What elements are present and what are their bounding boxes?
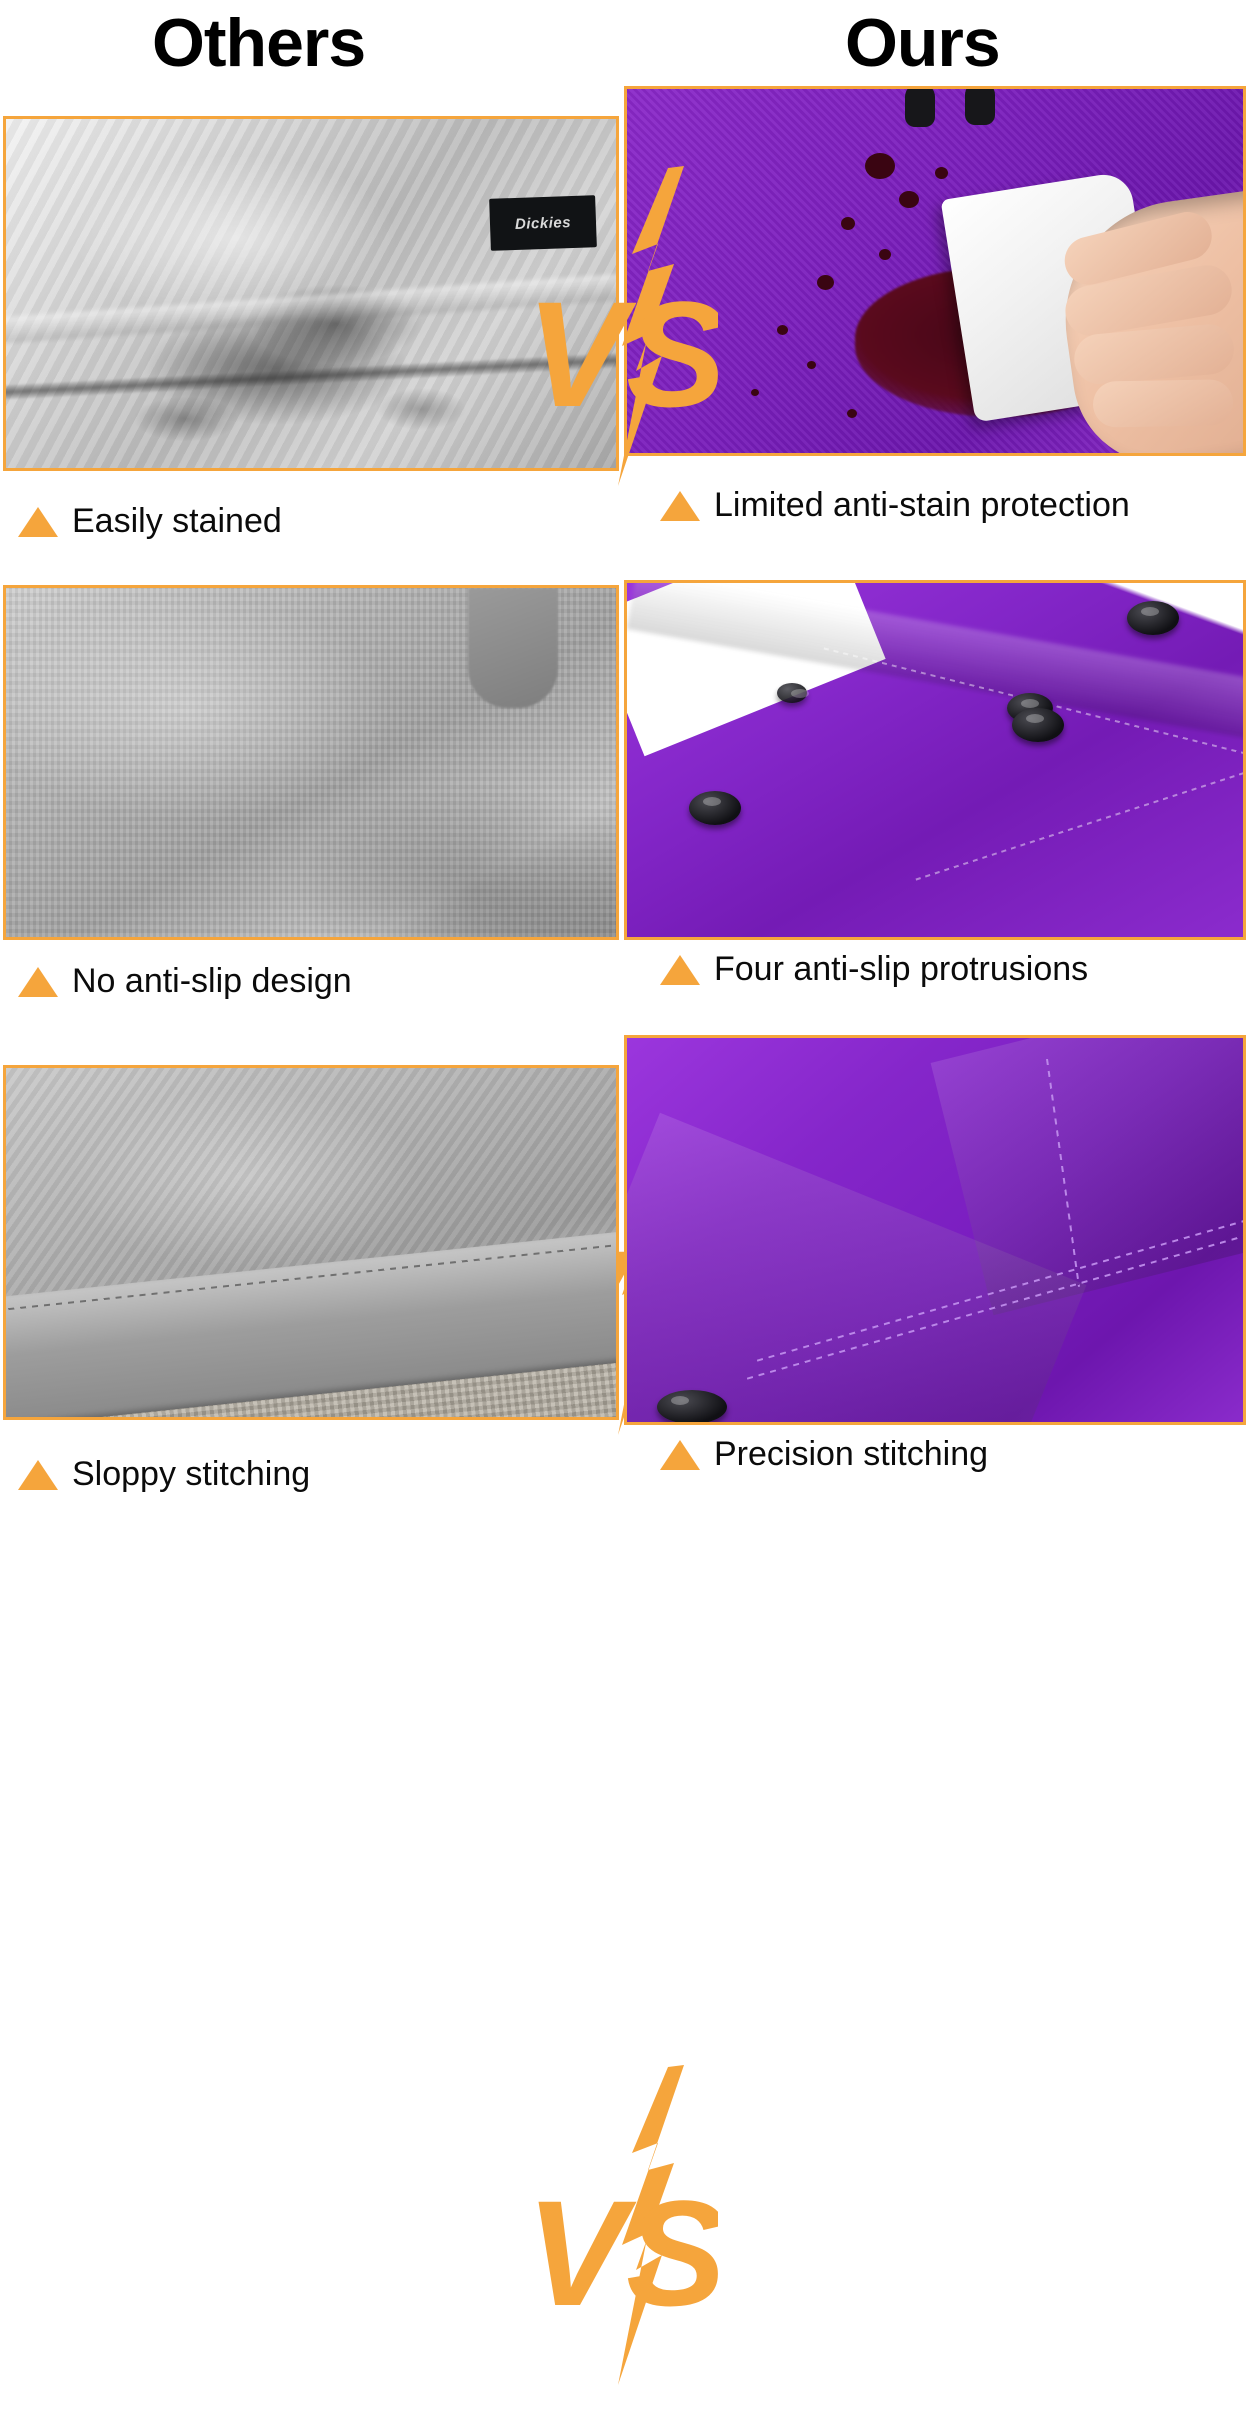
ours-image-precisionstitching (624, 1035, 1246, 1425)
caption-ours-1: Limited anti-stain protection (660, 486, 1130, 525)
triangle-bullet-icon (18, 1460, 58, 1490)
triangle-bullet-icon (660, 955, 700, 985)
caption-text: Easily stained (72, 502, 282, 541)
caption-others-3: Sloppy stitching (18, 1455, 310, 1494)
svg-text:VS: VS (526, 2169, 718, 2337)
clip-icon (965, 86, 995, 125)
caption-text: Limited anti-stain protection (714, 486, 1130, 525)
stain-droplet (865, 153, 895, 179)
finger (1093, 379, 1234, 427)
stain-droplet (807, 361, 816, 369)
stain-droplet (935, 167, 948, 179)
clip-icon (905, 86, 935, 127)
brand-tag: Dickies (489, 195, 597, 251)
stain-droplet (841, 217, 855, 230)
comparison-row-1: Dickies VS Easily stained (0, 86, 1249, 556)
anti-slip-nub (1127, 601, 1179, 635)
triangle-bullet-icon (18, 507, 58, 537)
others-image-sloppystitching (3, 1065, 619, 1420)
stain-droplet (847, 409, 857, 418)
caption-ours-2: Four anti-slip protrusions (660, 950, 1088, 989)
header-title-ours: Ours (845, 0, 1000, 86)
caption-ours-3: Precision stitching (660, 1435, 988, 1474)
ours-image-antislip (624, 580, 1246, 940)
anti-slip-nub (689, 791, 741, 825)
anti-slip-nub (1012, 708, 1064, 742)
caption-text: Four anti-slip protrusions (714, 950, 1088, 989)
triangle-bullet-icon (18, 967, 58, 997)
caption-text: Sloppy stitching (72, 1455, 310, 1494)
caption-text: Precision stitching (714, 1435, 988, 1474)
caption-text: No anti-slip design (72, 962, 352, 1001)
caption-others-1: Easily stained (18, 502, 282, 541)
stain-droplet (751, 389, 759, 396)
stain-droplet (817, 275, 834, 290)
others-image-noantislip (3, 585, 619, 940)
triangle-bullet-icon (660, 1440, 700, 1470)
header-title-others: Others (152, 0, 365, 86)
anti-slip-nub (657, 1390, 727, 1424)
stain-droplet (879, 249, 891, 260)
comparison-row-2: VS No anti-slip design Four anti-slip pr… (0, 560, 1249, 1030)
anti-slip-nub (777, 683, 807, 703)
vs-badge: VS (498, 2055, 718, 2435)
ours-image-antistain (624, 86, 1246, 456)
fabric-flap (468, 588, 558, 708)
caption-others-2: No anti-slip design (18, 962, 352, 1001)
triangle-bullet-icon (660, 491, 700, 521)
comparison-row-3: VS Sloppy stitching Precision stitching (0, 1035, 1249, 1505)
stain-droplet (899, 191, 919, 208)
others-image-stained: Dickies (3, 116, 619, 471)
stain-droplet (777, 325, 788, 335)
header: Others Ours (0, 0, 1249, 86)
